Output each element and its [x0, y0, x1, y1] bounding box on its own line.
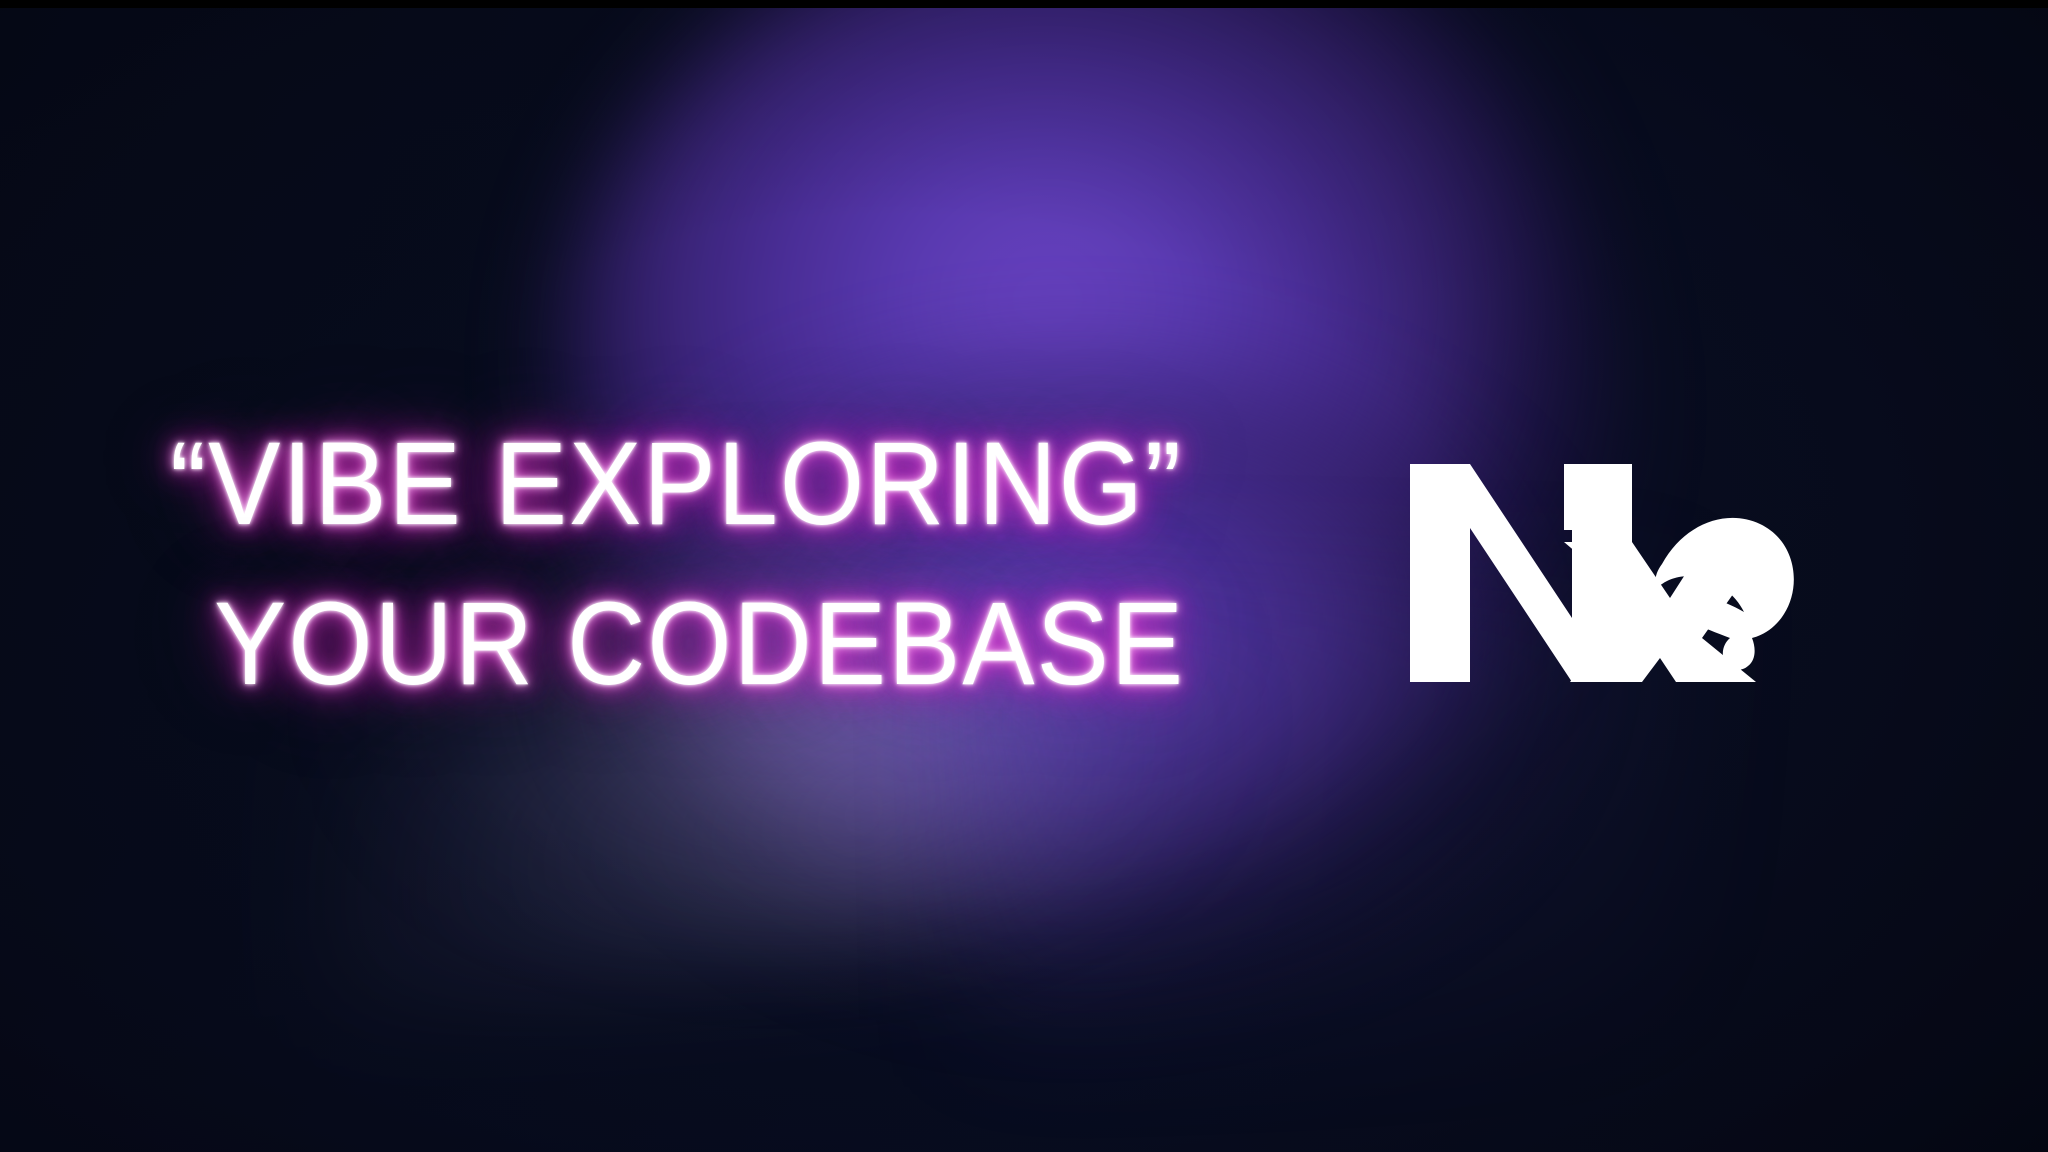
- headline-line-2: YOUR CODEBASE: [214, 564, 1204, 724]
- nx-logo-icon: [1404, 446, 1804, 696]
- nx-logo: [1404, 446, 1804, 696]
- headline: “VIBE EXPLORING” YOUR CODEBASE: [170, 404, 1290, 725]
- headline-line-1: “VIBE EXPLORING”: [170, 404, 1200, 564]
- top-letterbox-bar: [0, 0, 2048, 8]
- slide-canvas: “VIBE EXPLORING” YOUR CODEBASE: [0, 0, 2048, 1152]
